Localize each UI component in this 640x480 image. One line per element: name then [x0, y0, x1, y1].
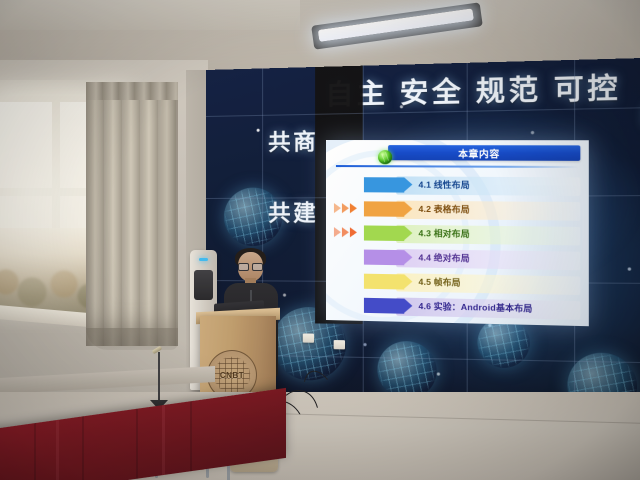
- curtain: [86, 84, 178, 346]
- slide-row-label: 4.5 帧布局: [418, 275, 460, 288]
- glasses-lens: [252, 263, 263, 271]
- chevron-icon: [334, 227, 341, 237]
- cloth-highlight: [56, 420, 59, 480]
- cloth-fold: [136, 409, 138, 479]
- ceiling-soffit: [0, 0, 300, 30]
- slide-row: 4.3 相对布局: [326, 222, 589, 248]
- slide-row-arrow-tip: [404, 177, 412, 191]
- slide-row-arrow-tip: [404, 299, 412, 313]
- lecture-room-photo: 自主 安全 规范 可控 共商 共建 共 本章内容 4.1 线性布局4.2 表格布…: [0, 0, 640, 480]
- mic-stand-pole: [158, 352, 160, 402]
- wall-outlet: [334, 340, 345, 349]
- slide-row-arrow-icon: [364, 225, 404, 241]
- glasses-lens: [238, 263, 249, 271]
- slide-row-arrow-tip: [404, 274, 412, 288]
- slide-row-label: 4.4 绝对布局: [418, 251, 469, 264]
- microphone-stand: [148, 348, 170, 412]
- slide-row-label: 4.3 相对布局: [418, 227, 469, 240]
- cloth-fold: [34, 423, 36, 480]
- chevron-icon: [342, 203, 349, 213]
- wall-left-line-1: 共商: [268, 124, 318, 157]
- chevron-icon: [350, 227, 357, 237]
- ac-status-led: [199, 258, 208, 261]
- slide-row-arrow-icon: [364, 274, 404, 290]
- slide-row-arrow-tip: [404, 226, 412, 240]
- chevron-marker-icon: [334, 227, 357, 237]
- curtain-header: [86, 82, 178, 100]
- chevron-icon: [334, 203, 341, 213]
- chevron-marker-icon: [334, 203, 357, 213]
- slide-row-arrow-tip: [404, 250, 412, 264]
- slide-row-arrow-icon: [364, 298, 404, 314]
- chevron-icon: [350, 203, 357, 213]
- slide-row-arrow-icon: [364, 177, 404, 192]
- slide-row-label: 4.1 线性布局: [418, 178, 469, 191]
- ac-control-panel[interactable]: [194, 270, 213, 300]
- curtain-hem: [86, 328, 178, 350]
- cloth-highlight: [162, 405, 165, 475]
- slide-row: 4.2 表格布局: [326, 198, 589, 223]
- slide-title: 本章内容: [388, 146, 572, 161]
- glasses-icon: [238, 263, 263, 269]
- slide-row-arrow-icon: [364, 201, 404, 216]
- cloth-fold: [190, 401, 192, 471]
- slide-row-arrow-icon: [364, 250, 404, 266]
- slide-row-arrow-tip: [404, 202, 412, 216]
- slide-title-bar: 本章内容: [388, 145, 580, 161]
- cloth-fold: [82, 416, 84, 480]
- presentation-slide: 本章内容 4.1 线性布局4.2 表格布局4.3 相对布局4.4 绝对布局4.5…: [326, 140, 589, 326]
- slide-row-label: 4.6 实验：Android基本布局: [418, 299, 532, 314]
- slide-row: 4.4 绝对布局: [326, 246, 589, 272]
- wall-left-line-2: 共建: [268, 195, 318, 228]
- wall-outlet: [303, 333, 314, 342]
- slide-row-label: 4.2 表格布局: [418, 202, 469, 215]
- chevron-icon: [342, 227, 349, 237]
- globe-mesh-graphic: [377, 341, 436, 400]
- slide-row: 4.1 线性布局: [326, 174, 589, 198]
- wall-headline: 自主 安全 规范 可控: [325, 65, 621, 113]
- green-globe-icon: [378, 150, 392, 164]
- podium-emblem-text: CNBT: [220, 371, 244, 380]
